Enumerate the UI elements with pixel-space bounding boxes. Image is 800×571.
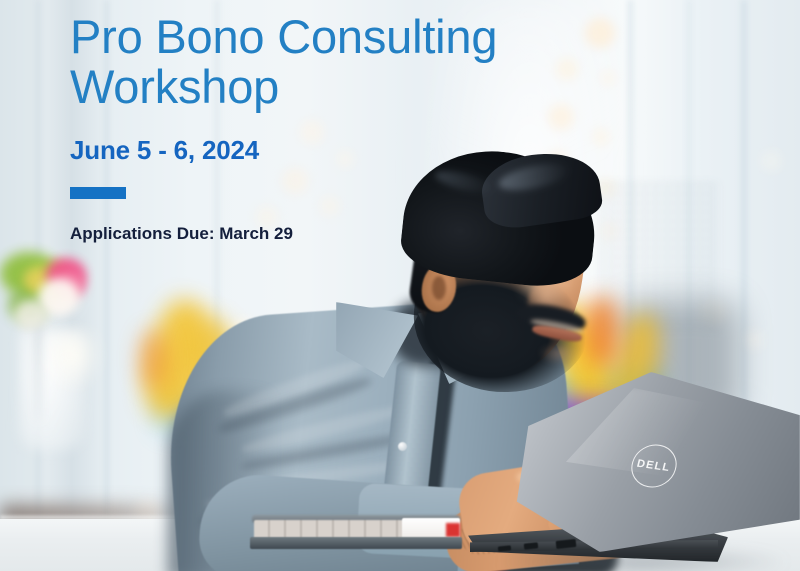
ear-inner bbox=[432, 276, 446, 300]
dell-logo-text: DELL bbox=[636, 458, 672, 474]
accent-divider bbox=[70, 187, 126, 199]
event-banner: DELL Pro Bono Consulting Workshop June 5… bbox=[0, 0, 800, 571]
shirt-button bbox=[398, 442, 407, 451]
notebook-on-desk bbox=[250, 517, 462, 549]
notebook-cover bbox=[250, 537, 462, 549]
chin-highlight bbox=[538, 346, 578, 364]
banner-text-block: Pro Bono Consulting Workshop June 5 - 6,… bbox=[70, 12, 590, 244]
page-title: Pro Bono Consulting Workshop bbox=[70, 12, 590, 112]
laptop: DELL bbox=[468, 372, 800, 571]
notebook-red-mark bbox=[446, 523, 460, 537]
event-date: June 5 - 6, 2024 bbox=[70, 135, 590, 166]
application-deadline: Applications Due: March 29 bbox=[70, 224, 590, 244]
